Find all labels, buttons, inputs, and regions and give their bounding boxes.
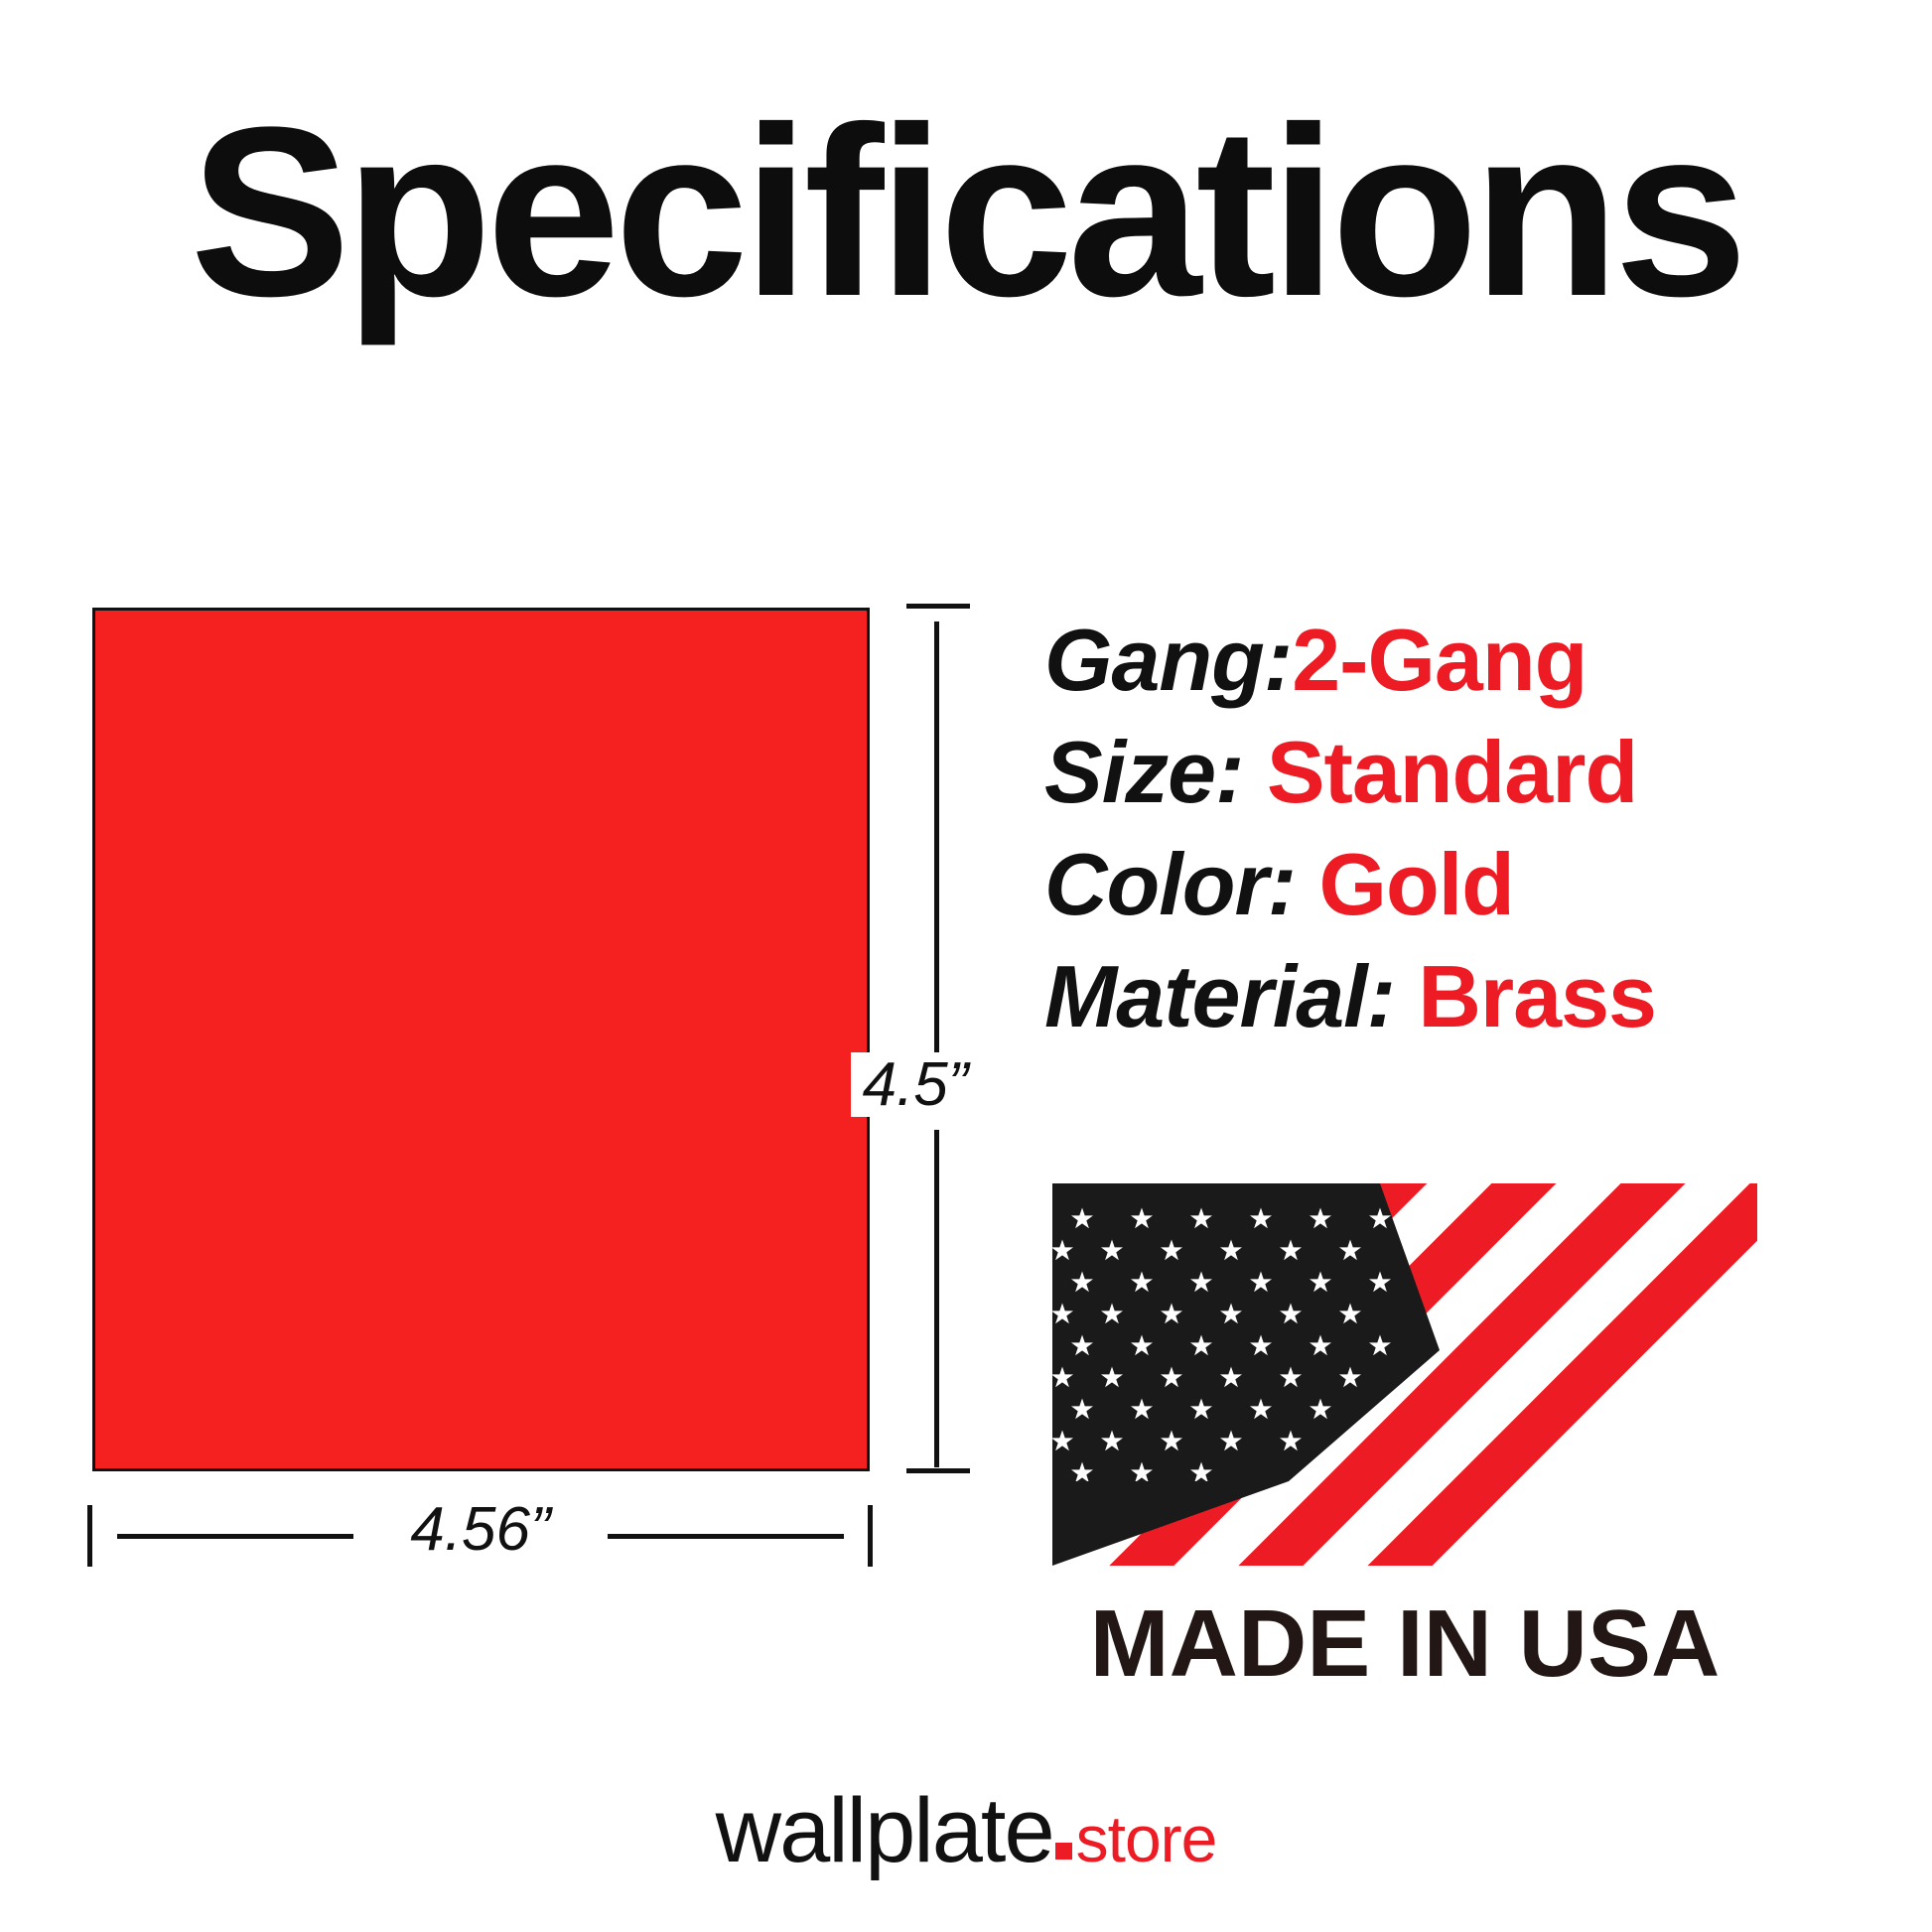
page-title: Specifications bbox=[0, 91, 1932, 333]
specification-list: Gang:2-Gang Size: Standard Color: Gold M… bbox=[1044, 604, 1898, 1052]
spec-label-gang: Gang: bbox=[1044, 611, 1292, 709]
brand-logo[interactable]: wallplatestore bbox=[0, 1785, 1932, 1876]
spec-row-material: Material: Brass bbox=[1044, 940, 1898, 1052]
width-dimension-cap-right bbox=[868, 1505, 873, 1567]
usa-flag-badge bbox=[1052, 1183, 1757, 1566]
width-dimension-line-right bbox=[598, 1534, 844, 1539]
width-dimension: 4.56” bbox=[87, 1505, 877, 1571]
spec-label-material: Material: bbox=[1044, 947, 1418, 1045]
spec-value-size: Standard bbox=[1267, 723, 1637, 821]
spec-value-material: Brass bbox=[1418, 947, 1656, 1045]
height-dimension-label: 4.5” bbox=[851, 1052, 980, 1117]
usa-flag-icon bbox=[1052, 1183, 1757, 1566]
width-dimension-label: 4.56” bbox=[353, 1497, 608, 1562]
brand-name: wallplate bbox=[716, 1780, 1053, 1881]
spec-label-color: Color: bbox=[1044, 835, 1319, 933]
height-dimension-cap-top bbox=[906, 604, 970, 609]
height-dimension-cap-bottom bbox=[906, 1468, 970, 1473]
spec-row-color: Color: Gold bbox=[1044, 828, 1898, 940]
spec-value-gang: 2-Gang bbox=[1292, 611, 1587, 709]
spec-row-size: Size: Standard bbox=[1044, 716, 1898, 828]
width-dimension-line-left bbox=[117, 1534, 363, 1539]
brand-dot-icon bbox=[1055, 1843, 1072, 1860]
brand-tld: store bbox=[1076, 1802, 1217, 1875]
specification-card: Specifications 4.5” 4.56” Gang:2-Gang Si… bbox=[0, 0, 1932, 1932]
width-dimension-cap-left bbox=[87, 1505, 92, 1567]
spec-label-size: Size: bbox=[1044, 723, 1267, 821]
height-dimension-line-upper bbox=[934, 621, 939, 1068]
height-dimension-line-lower bbox=[934, 1130, 939, 1467]
spec-value-color: Gold bbox=[1319, 835, 1514, 933]
spec-row-gang: Gang:2-Gang bbox=[1044, 604, 1898, 716]
made-in-usa-caption: MADE IN USA bbox=[1042, 1596, 1767, 1692]
height-dimension: 4.5” bbox=[898, 604, 978, 1477]
product-color-swatch bbox=[92, 608, 870, 1471]
